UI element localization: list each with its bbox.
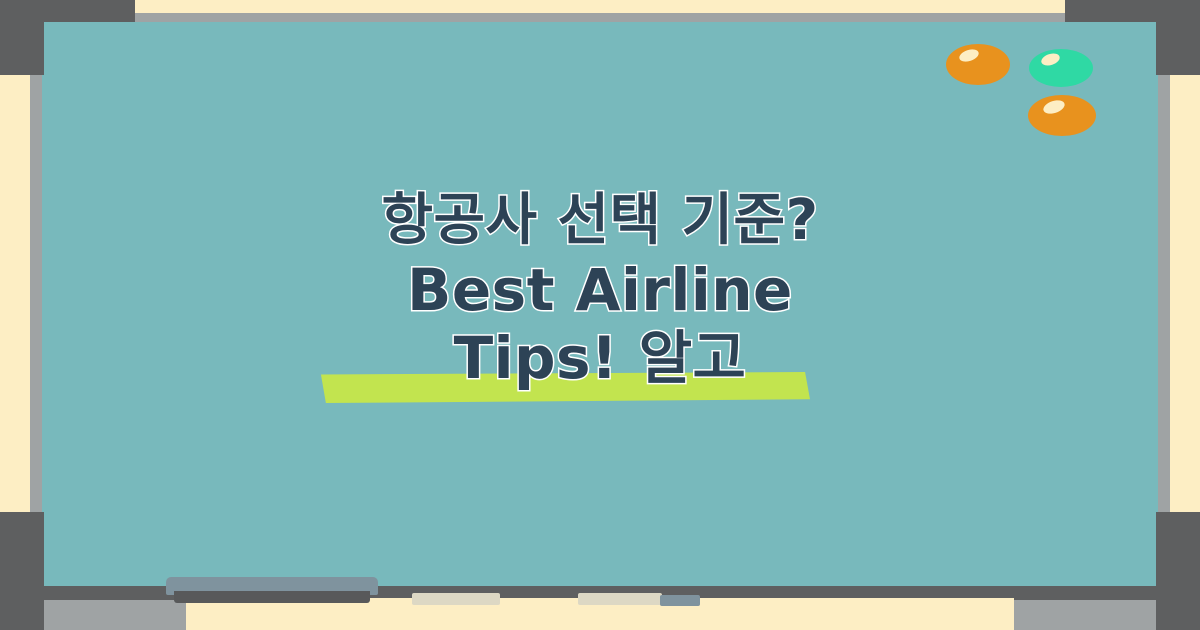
title-line-korean-question: 항공사 선택 기준? (0, 186, 1200, 256)
magnet-orange-icon (946, 44, 1010, 85)
chalk-stick-1 (412, 593, 500, 605)
corner-bracket-bottom-right-vertical (1156, 512, 1200, 630)
magnet-gloss-highlight (958, 47, 980, 64)
magnet-orange-icon (1028, 95, 1096, 136)
corner-bracket-bottom-left-vertical (0, 512, 44, 630)
title-line-mixed: Tips! 알고 (0, 324, 1200, 392)
title-line-english: Best Airline (0, 256, 1200, 324)
magnet-gloss-highlight (1040, 51, 1061, 67)
magnet-gloss-highlight (1042, 98, 1067, 116)
board-eraser (166, 577, 378, 601)
corner-bracket-top-right-horizontal (1065, 0, 1200, 22)
corner-bracket-top-left-horizontal (0, 0, 135, 22)
magnet-teal-icon (1029, 49, 1093, 87)
eraser-base (174, 591, 370, 603)
chalk-stick-2 (578, 593, 662, 605)
page-title: 항공사 선택 기준? Best Airline Tips! 알고 (0, 186, 1200, 392)
chalk-stick-2-holder (660, 595, 700, 606)
chalkboard-thumbnail: 항공사 선택 기준? Best Airline Tips! 알고 (0, 0, 1200, 630)
